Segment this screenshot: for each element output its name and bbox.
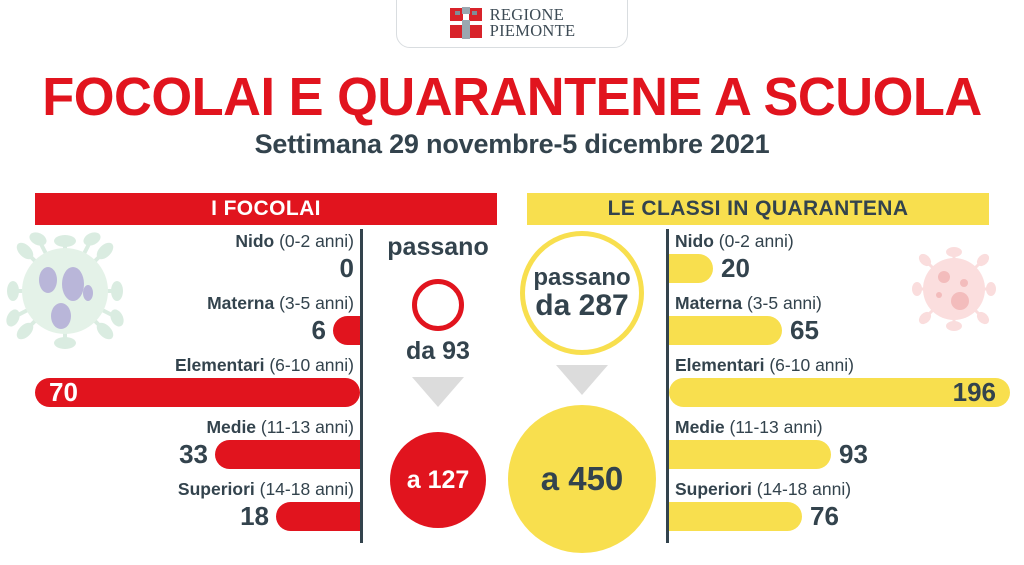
row-value-materna: 6: [312, 316, 326, 345]
regione-piemonte-cross-crest-icon: [449, 7, 483, 39]
page-title: FOCOLAI E QUARANTENE A SCUOLA: [15, 66, 1008, 128]
row-value-nido: 0: [340, 254, 354, 283]
to-value-right: a 450: [508, 405, 656, 553]
category-age: (0-2 anni): [719, 231, 794, 251]
logo-inner: REGIONE PIEMONTE: [449, 7, 576, 39]
row-label-medie: Medie (11-13 anni): [206, 415, 354, 439]
table-row: Superiori (14-18 anni) 76: [669, 477, 1024, 539]
page-subtitle: Settimana 29 novembre-5 dicembre 2021: [0, 129, 1024, 160]
row-label-materna: Materna (3-5 anni): [675, 291, 822, 315]
row-label-nido: Nido (0-2 anni): [675, 229, 794, 253]
category-name: Elementari: [675, 355, 764, 375]
focolai-rows: Nido (0-2 anni) 0 Materna (3-5 anni) 6 E…: [0, 229, 360, 549]
summary-focolai: passano da 93 a 127: [368, 229, 508, 549]
category-age: (14-18 anni): [757, 479, 851, 499]
category-name: Nido: [675, 231, 714, 251]
row-value-superiori: 76: [810, 502, 839, 531]
category-age: (6-10 anni): [269, 355, 354, 375]
row-value-superiori: 18: [240, 502, 269, 531]
passano-label-right: passano: [533, 265, 630, 290]
row-label-superiori: Superiori (14-18 anni): [178, 477, 354, 501]
category-name: Nido: [235, 231, 274, 251]
ring-outline-yellow: passano da 287: [520, 231, 644, 355]
logo-line-2: PIEMONTE: [490, 23, 576, 39]
row-value-elementari: 196: [953, 378, 1010, 407]
row-label-medie: Medie (11-13 anni): [675, 415, 823, 439]
from-value-left: da 93: [368, 337, 508, 366]
bar-medie: [215, 440, 360, 469]
arrow-down-triangle-left-icon: [412, 377, 464, 407]
bar-elementari: 196: [669, 378, 1010, 407]
category-age: (6-10 anni): [769, 355, 854, 375]
row-value-medie: 33: [179, 440, 208, 469]
row-label-elementari: Elementari (6-10 anni): [675, 353, 854, 377]
bar-superiori: [276, 502, 360, 531]
category-age: (3-5 anni): [279, 293, 354, 313]
row-label-nido: Nido (0-2 anni): [235, 229, 354, 253]
category-name: Medie: [675, 417, 725, 437]
axis-line-left: [360, 229, 363, 543]
banner-quarantena: LE CLASSI IN QUARANTENA: [527, 193, 989, 225]
summary-quarantena: passano da 287 a 450: [512, 229, 652, 549]
row-label-superiori: Superiori (14-18 anni): [675, 477, 851, 501]
infographic-page: REGIONE PIEMONTE FOCOLAI E QUARANTENE A …: [0, 0, 1024, 565]
table-row: Materna (3-5 anni) 65: [669, 291, 1024, 353]
bar-superiori: [669, 502, 802, 531]
category-name: Materna: [207, 293, 274, 313]
row-value-materna: 65: [790, 316, 819, 345]
category-name: Superiori: [178, 479, 255, 499]
category-name: Superiori: [675, 479, 752, 499]
table-row: Medie (11-13 anni) 93: [669, 415, 1024, 477]
category-age: (0-2 anni): [279, 231, 354, 251]
category-age: (14-18 anni): [260, 479, 354, 499]
regione-piemonte-logo-plate: REGIONE PIEMONTE: [396, 0, 628, 48]
bar-medie: [669, 440, 831, 469]
table-row: Nido (0-2 anni) 0: [0, 229, 360, 291]
passano-label-left: passano: [368, 233, 508, 262]
category-age: (11-13 anni): [729, 417, 822, 437]
table-row: Nido (0-2 anni) 20: [669, 229, 1024, 291]
category-name: Materna: [675, 293, 742, 313]
bar-materna: [333, 316, 360, 345]
row-value-elementari: 70: [35, 378, 78, 407]
category-name: Elementari: [175, 355, 264, 375]
table-row: Elementari (6-10 anni) 196: [669, 353, 1024, 415]
row-label-elementari: Elementari (6-10 anni): [175, 353, 354, 377]
table-row: Elementari (6-10 anni) 70: [0, 353, 360, 415]
arrow-down-triangle-right-icon: [556, 365, 608, 395]
row-value-nido: 20: [721, 254, 750, 283]
bar-elementari: 70: [35, 378, 360, 407]
to-value-left: a 127: [390, 432, 486, 528]
table-row: Materna (3-5 anni) 6: [0, 291, 360, 353]
category-name: Medie: [206, 417, 256, 437]
banner-focolai: I FOCOLAI: [35, 193, 497, 225]
bar-materna: [669, 316, 782, 345]
row-label-materna: Materna (3-5 anni): [207, 291, 354, 315]
ring-outline-red: [412, 279, 464, 331]
quarantena-rows: Nido (0-2 anni) 20 Materna (3-5 anni) 65…: [669, 229, 1024, 549]
table-row: Superiori (14-18 anni) 18: [0, 477, 360, 539]
category-age: (3-5 anni): [747, 293, 822, 313]
logo-wordmark: REGIONE PIEMONTE: [490, 7, 576, 39]
bar-nido: [669, 254, 713, 283]
category-age: (11-13 anni): [261, 417, 354, 437]
from-value-right: da 287: [535, 290, 628, 322]
row-value-medie: 93: [839, 440, 868, 469]
table-row: Medie (11-13 anni) 33: [0, 415, 360, 477]
